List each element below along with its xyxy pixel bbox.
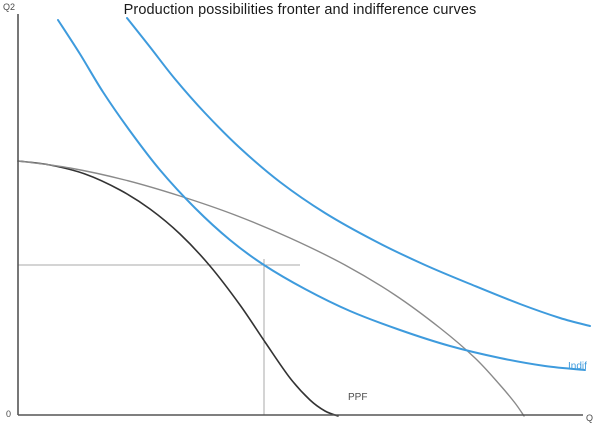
axis-group [18, 14, 583, 415]
ppf-indifference-plot [0, 0, 600, 429]
origin-label: 0 [6, 409, 11, 419]
guide-line-group [18, 259, 300, 415]
y-axis-label: Q2 [3, 2, 15, 12]
x-axis-label: Q [586, 413, 593, 423]
curve-indifference [127, 18, 590, 326]
curve-indifference-tangent [58, 20, 585, 370]
indifference-curve-label: Indif [568, 361, 587, 372]
curve-ppf-outer [18, 161, 524, 416]
curve-ppf [18, 161, 338, 416]
chart-canvas: Production possibilities fronter and ind… [0, 0, 600, 429]
ppf-curve-label: PPF [348, 392, 367, 403]
curve-group [18, 18, 590, 416]
